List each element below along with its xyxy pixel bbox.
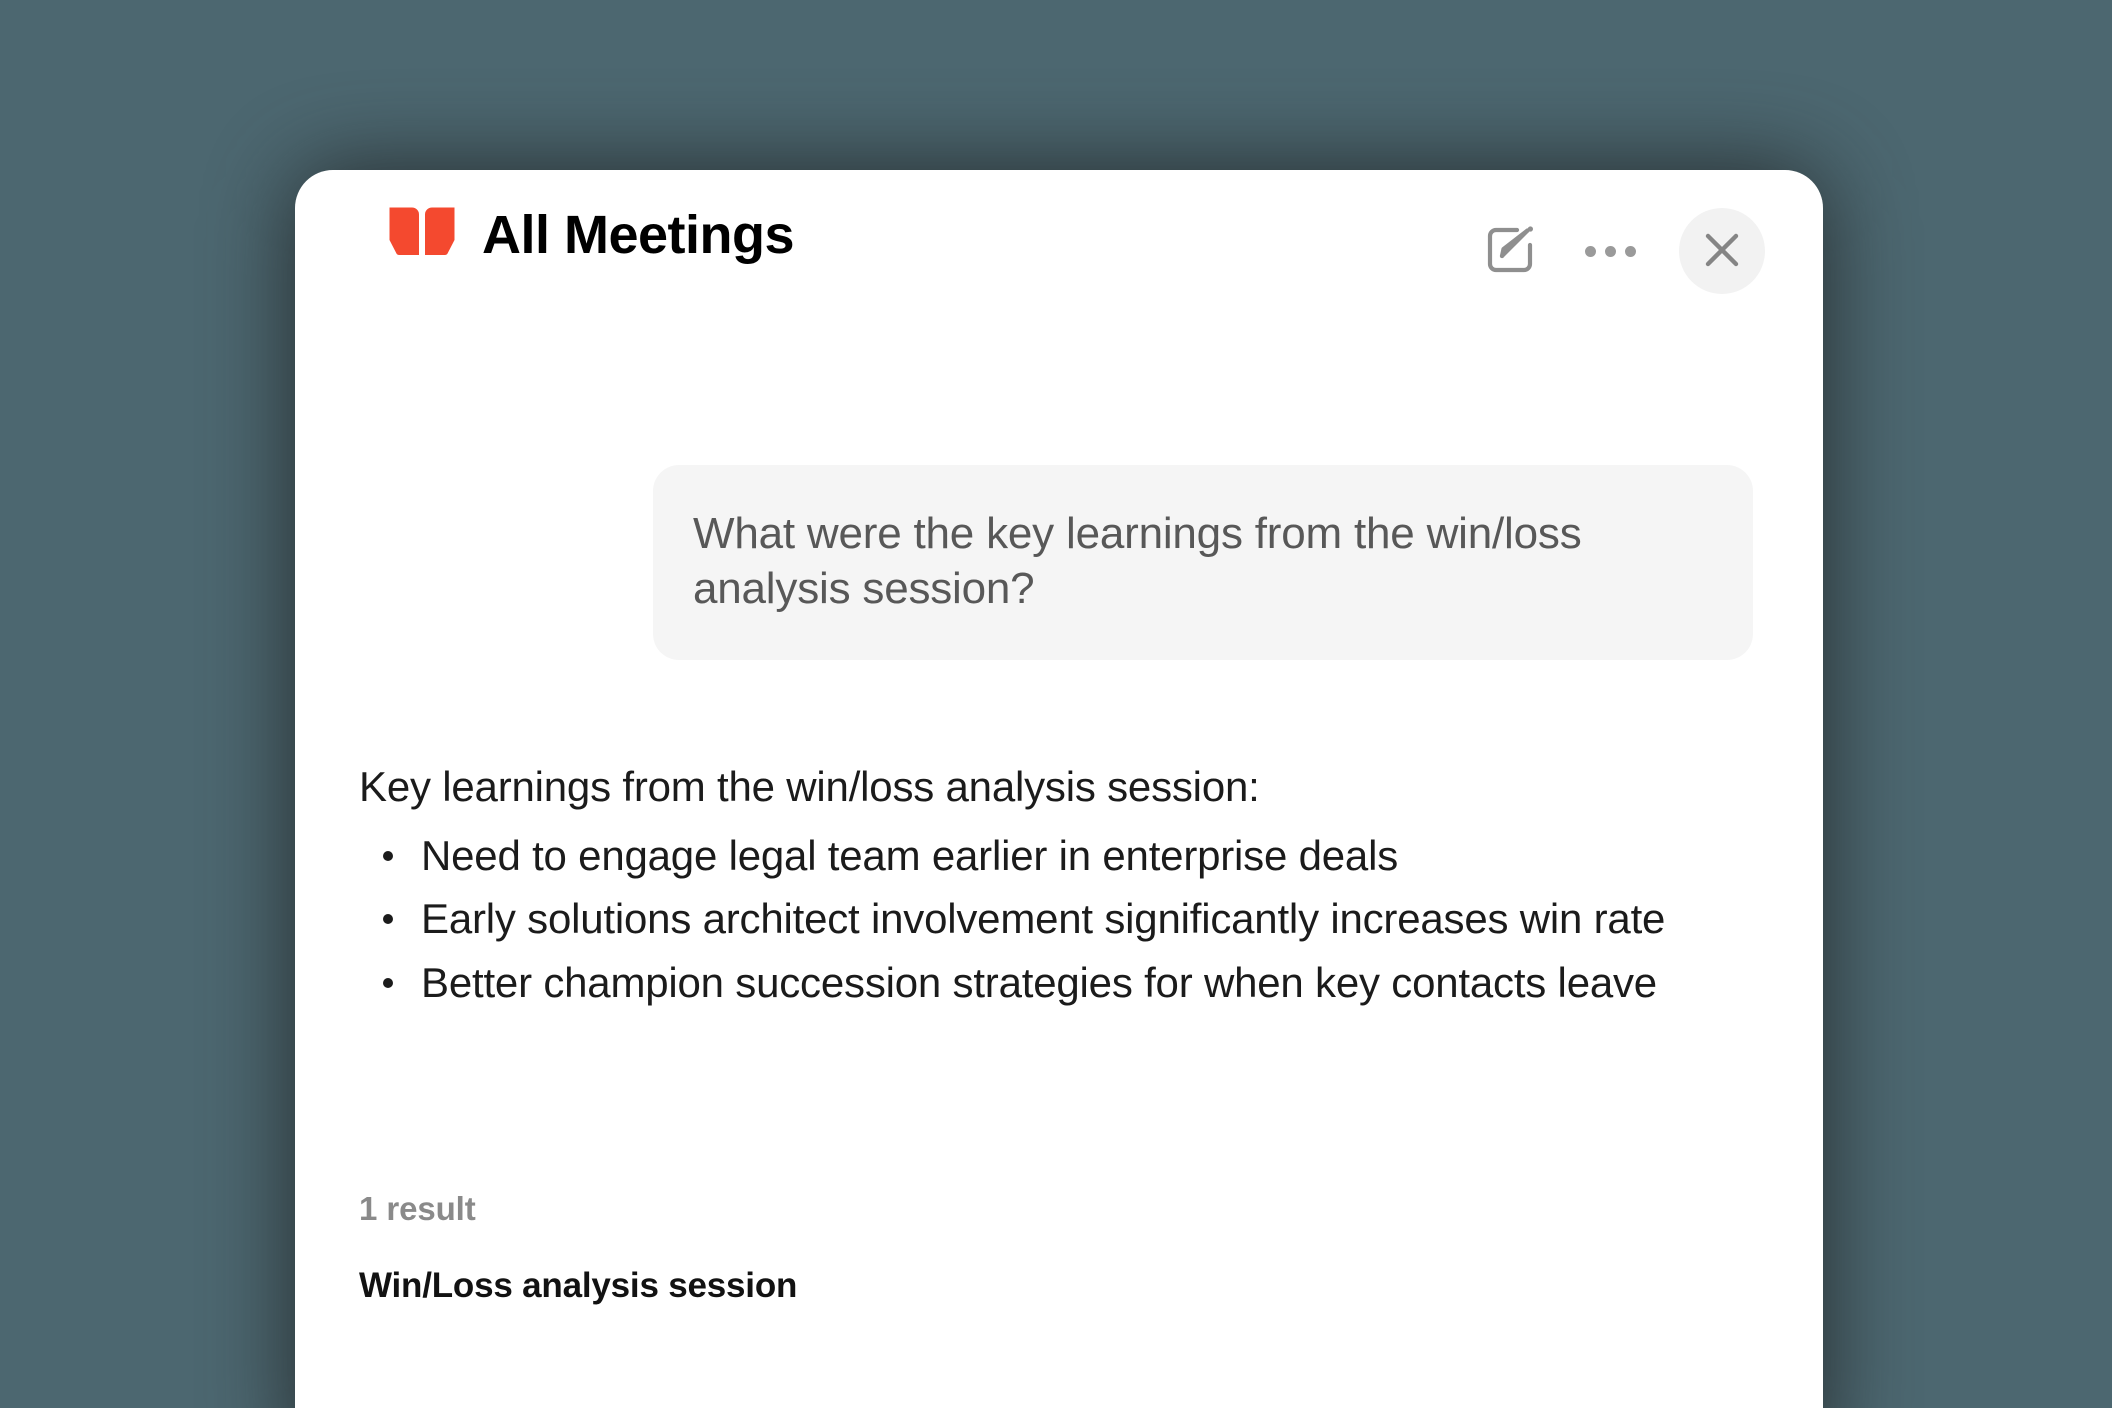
close-icon bbox=[1701, 229, 1743, 274]
open-book-icon bbox=[388, 206, 456, 264]
list-item: Early solutions architect involvement si… bbox=[359, 891, 1779, 946]
list-item: Need to engage legal team earlier in ent… bbox=[359, 828, 1779, 883]
header-title-group: All Meetings bbox=[388, 206, 794, 264]
user-message-bubble: What were the key learnings from the win… bbox=[653, 465, 1753, 660]
more-options-button[interactable] bbox=[1579, 220, 1641, 282]
results-count-label: 1 result bbox=[359, 1190, 1779, 1228]
answer-lead-text: Key learnings from the win/loss analysis… bbox=[359, 760, 1779, 814]
close-button[interactable] bbox=[1679, 208, 1765, 294]
user-message-text: What were the key learnings from the win… bbox=[693, 507, 1713, 616]
more-options-icon bbox=[1585, 246, 1636, 257]
answer-bullet-list: Need to engage legal team earlier in ent… bbox=[359, 828, 1779, 1010]
compose-button[interactable] bbox=[1479, 220, 1541, 282]
compose-icon bbox=[1483, 223, 1537, 280]
results-section: 1 result Win/Loss analysis session bbox=[359, 1190, 1779, 1306]
list-item[interactable]: Win/Loss analysis session bbox=[359, 1266, 1779, 1306]
list-item: Better champion succession strategies fo… bbox=[359, 955, 1779, 1010]
assistant-answer: Key learnings from the win/loss analysis… bbox=[359, 760, 1779, 1018]
header-actions bbox=[1479, 208, 1765, 294]
all-meetings-panel: All Meetings bbox=[295, 170, 1823, 1408]
panel-header: All Meetings bbox=[295, 170, 1823, 310]
page-title: All Meetings bbox=[482, 208, 794, 262]
